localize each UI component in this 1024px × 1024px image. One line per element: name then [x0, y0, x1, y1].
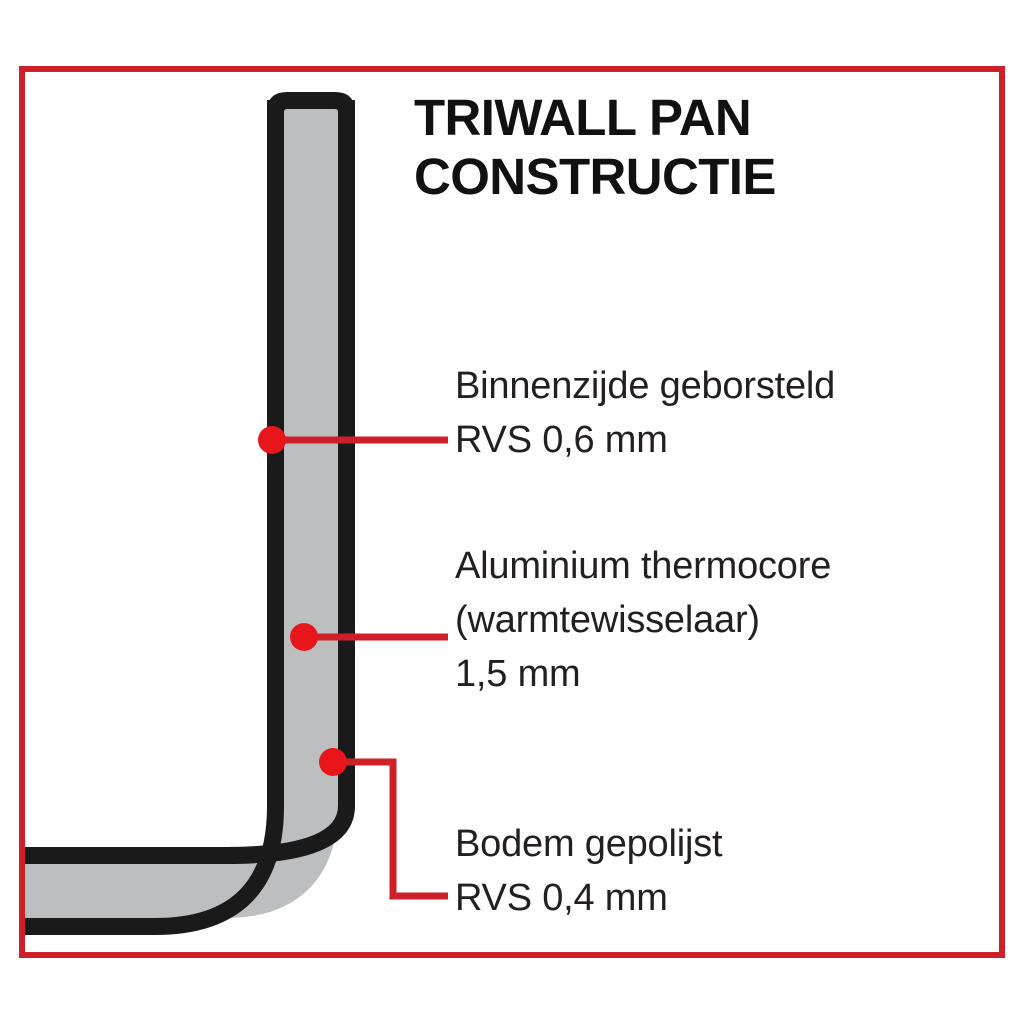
page-title: TRIWALL PAN CONSTRUCTIE: [414, 88, 974, 206]
callout-label-core: Aluminium thermocore (warmtewisselaar) 1…: [455, 540, 831, 702]
callout-core-line-3: 1,5 mm: [455, 648, 831, 702]
callout-core-line-1: Aluminium thermocore: [455, 540, 831, 594]
page-title-line-2: CONSTRUCTIE: [414, 147, 974, 206]
infographic-canvas: TRIWALL PAN CONSTRUCTIE Binnenzijde gebo…: [0, 0, 1024, 1024]
callout-inner-line-2: RVS 0,6 mm: [455, 414, 835, 468]
callout-bottom-line-2: RVS 0,4 mm: [455, 872, 722, 926]
callout-label-inner: Binnenzijde geborsteld RVS 0,6 mm: [455, 360, 835, 468]
callout-bottom-line-1: Bodem gepolijst: [455, 818, 722, 872]
callout-label-bottom: Bodem gepolijst RVS 0,4 mm: [455, 818, 722, 926]
callout-inner-line-1: Binnenzijde geborsteld: [455, 360, 835, 414]
callout-core-line-2: (warmtewisselaar): [455, 594, 831, 648]
page-title-line-1: TRIWALL PAN: [414, 88, 974, 147]
